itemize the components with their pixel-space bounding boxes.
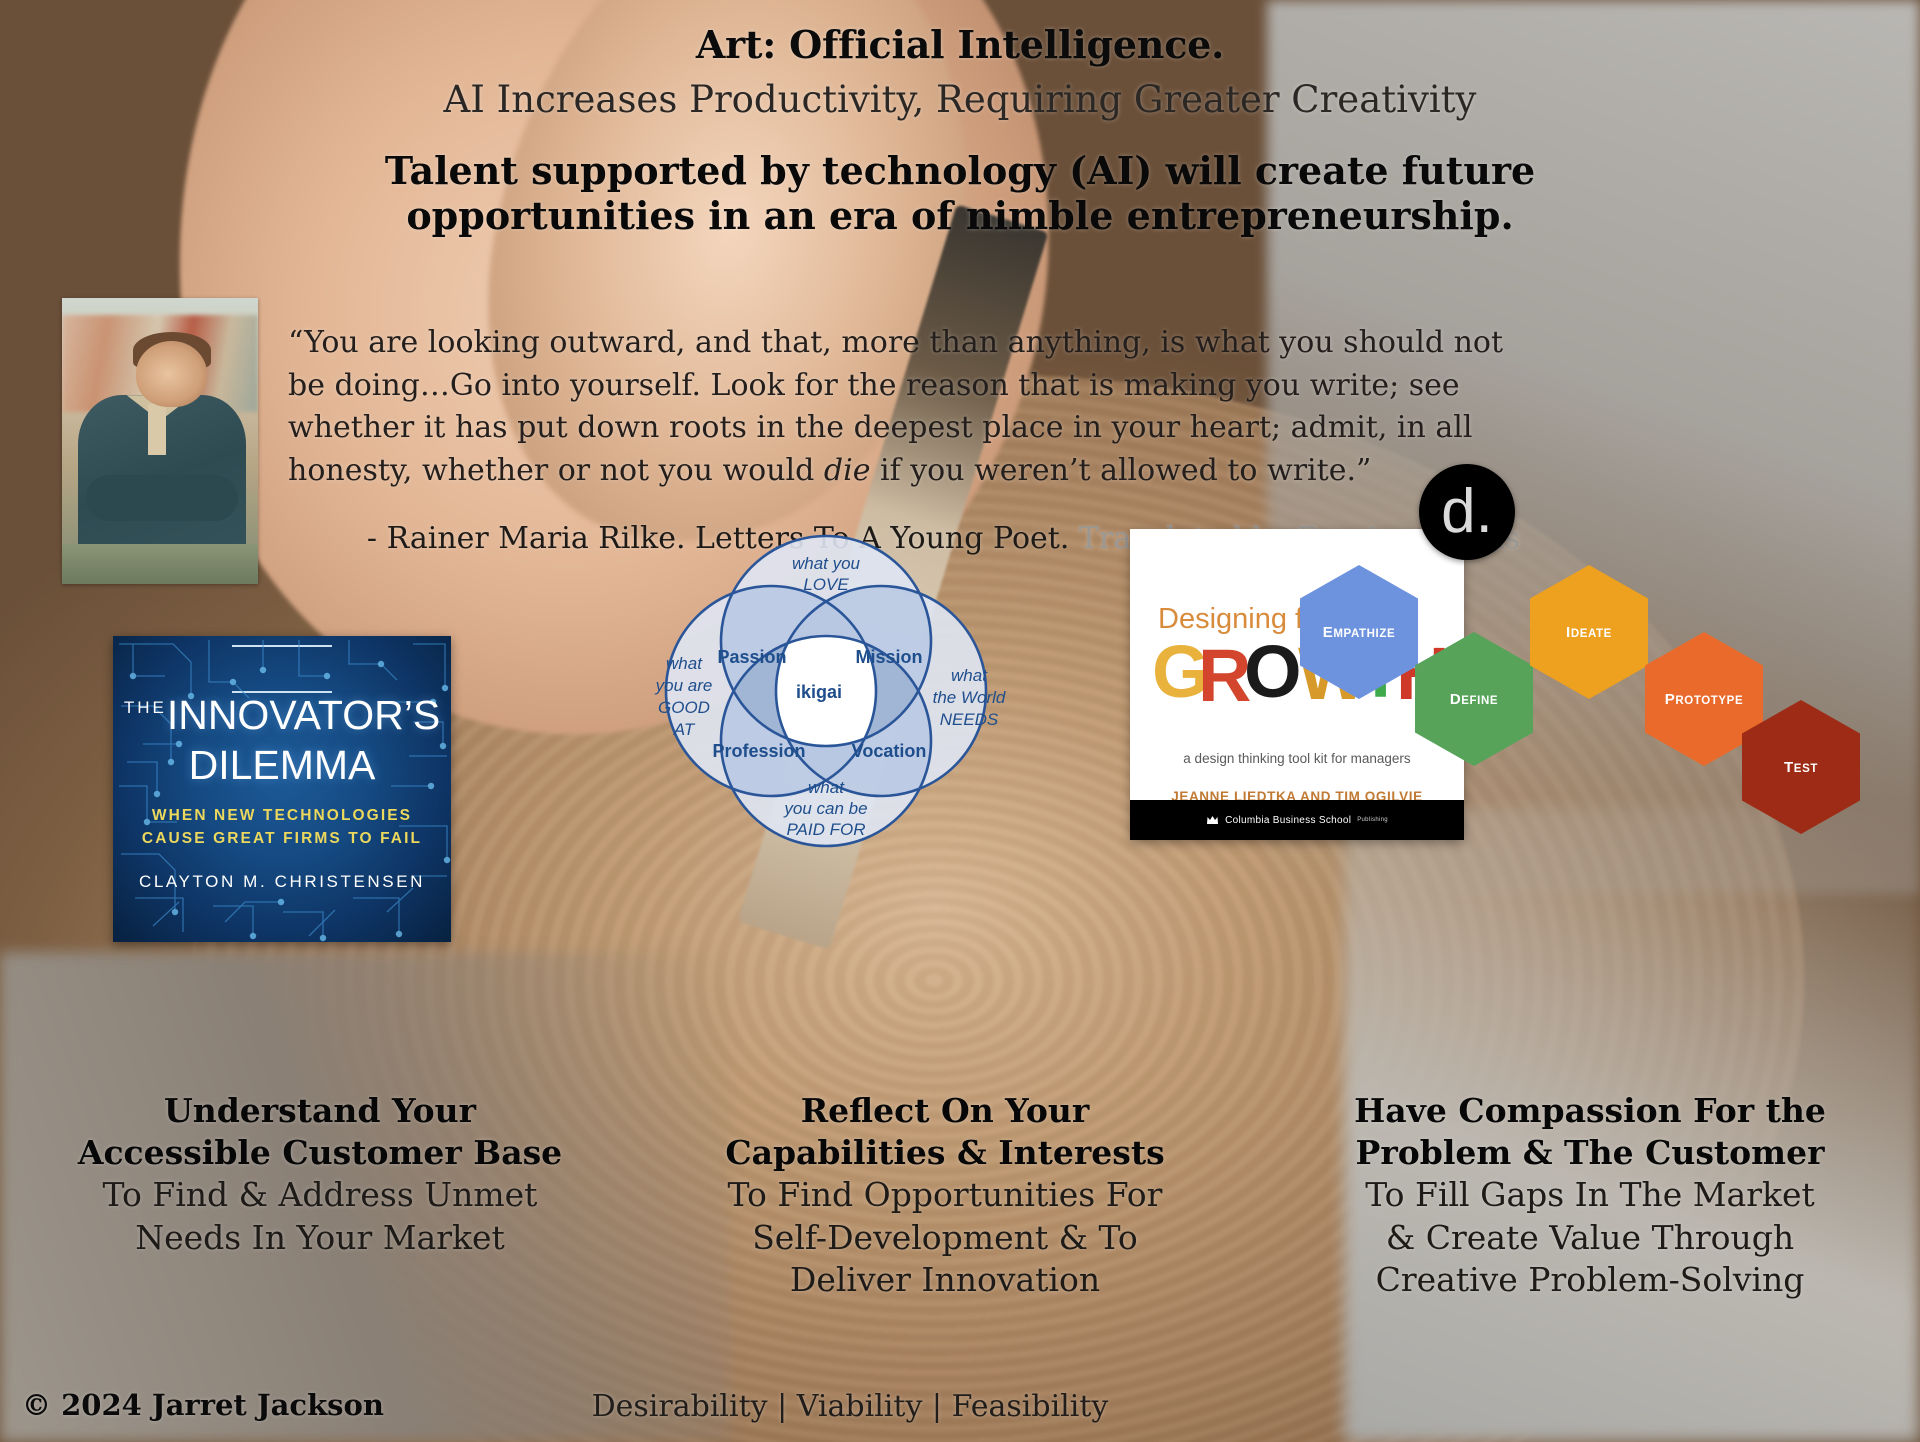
portrait-head [136, 341, 207, 407]
col2-bold-line-1: Reflect On Your [645, 1090, 1245, 1132]
svg-text:ikigai: ikigai [796, 682, 842, 702]
column-understand-customer-base: Understand Your Accessible Customer Base… [20, 1090, 620, 1259]
portrait-tie [148, 404, 166, 455]
dilemma-cover-art: THEINNOVATOR’S DILEMMA WHEN NEW TECHNOLO… [113, 636, 451, 942]
svg-text:what: what [808, 778, 845, 797]
quote-italic-word: die [824, 453, 871, 488]
book-cover-innovators-dilemma: THEINNOVATOR’S DILEMMA WHEN NEW TECHNOLO… [113, 636, 451, 846]
circuit-pattern-icon [113, 636, 451, 942]
hex-step-empathize[interactable]: EMPATHIZE [1300, 565, 1418, 699]
col2-light-line-1: To Find Opportunities For [645, 1174, 1245, 1216]
svg-text:LOVE: LOVE [803, 575, 849, 594]
headline-line-2: opportunities in an era of nimble entrep… [0, 193, 1920, 238]
col1-light-line-1: To Find & Address Unmet [20, 1174, 620, 1216]
svg-text:you are: you are [655, 676, 713, 695]
dilemma-subtitle-line-1: WHEN NEW TECHNOLOGIES [113, 804, 451, 827]
col2-bold-line-2: Capabilities & Interests [645, 1132, 1245, 1174]
column-have-compassion: Have Compassion For the Problem & The Cu… [1290, 1090, 1890, 1301]
svg-text:GOOD: GOOD [658, 698, 710, 717]
svg-text:NEEDS: NEEDS [940, 710, 999, 729]
hex-step-test[interactable]: TEST [1742, 700, 1860, 834]
svg-text:Vocation: Vocation [852, 741, 927, 761]
col2-light-line-3: Deliver Innovation [645, 1259, 1245, 1301]
rilke-quote: “You are looking outward, and that, more… [288, 322, 1520, 492]
svg-text:the World: the World [933, 688, 1006, 707]
rilke-portrait [62, 298, 258, 584]
dilemma-title-line-1: INNOVATOR’S [167, 692, 440, 738]
col3-light-line-1: To Fill Gaps In The Market [1290, 1174, 1890, 1216]
dschool-logo-icon: d. [1419, 464, 1515, 560]
svg-text:Passion: Passion [717, 647, 786, 667]
svg-text:what: what [951, 666, 988, 685]
ikigai-svg: what you LOVE what you are GOOD AT what … [621, 531, 1031, 851]
col3-light-line-2: & Create Value Through [1290, 1217, 1890, 1259]
col3-light-line-3: Creative Problem-Solving [1290, 1259, 1890, 1301]
desirability-viability-feasibility: Desirability | Viability | Feasibility [520, 1389, 1180, 1424]
col1-light-line-2: Needs In Your Market [20, 1217, 620, 1259]
hex-step-define[interactable]: DEFINE [1415, 632, 1533, 766]
page-subtitle: AI Increases Productivity, Requiring Gre… [0, 78, 1920, 121]
dilemma-the: THE [124, 698, 167, 717]
col3-bold-line-1: Have Compassion For the [1290, 1090, 1890, 1132]
dilemma-author: CLAYTON M. CHRISTENSEN [113, 872, 451, 892]
design-thinking-process: EMPATHIZE DEFINE IDEATE PROTOTYPE TEST [1290, 560, 1920, 850]
col3-bold-line-2: Problem & The Customer [1290, 1132, 1890, 1174]
quote-part-2: if you weren’t allowed to write.” [870, 453, 1371, 488]
copyright-notice: © 2024 Jarret Jackson [22, 1388, 384, 1422]
portrait-arms [86, 475, 239, 521]
column-reflect-capabilities: Reflect On Your Capabilities & Interests… [645, 1090, 1245, 1301]
svg-text:Profession: Profession [712, 741, 805, 761]
page-title: Art: Official Intelligence. [0, 22, 1920, 67]
svg-text:PAID FOR: PAID FOR [786, 820, 865, 839]
hex-step-ideate[interactable]: IDEATE [1530, 565, 1648, 699]
svg-text:Mission: Mission [855, 647, 922, 667]
dilemma-subtitle-line-2: CAUSE GREAT FIRMS TO FAIL [113, 827, 451, 850]
dilemma-title-line-2: DILEMMA [113, 744, 451, 787]
col2-light-line-2: Self-Development & To [645, 1217, 1245, 1259]
svg-text:what: what [666, 654, 703, 673]
crown-icon [1206, 814, 1219, 827]
col1-bold-line-2: Accessible Customer Base [20, 1132, 620, 1174]
svg-text:what you: what you [792, 554, 861, 573]
ikigai-venn-diagram: what you LOVE what you are GOOD AT what … [621, 531, 1031, 851]
portrait-ground [62, 544, 258, 584]
col1-bold-line-1: Understand Your [20, 1090, 620, 1132]
headline-line-1: Talent supported by technology (AI) will… [0, 148, 1920, 193]
svg-text:AT: AT [673, 720, 696, 739]
svg-text:you can be: you can be [783, 799, 867, 818]
